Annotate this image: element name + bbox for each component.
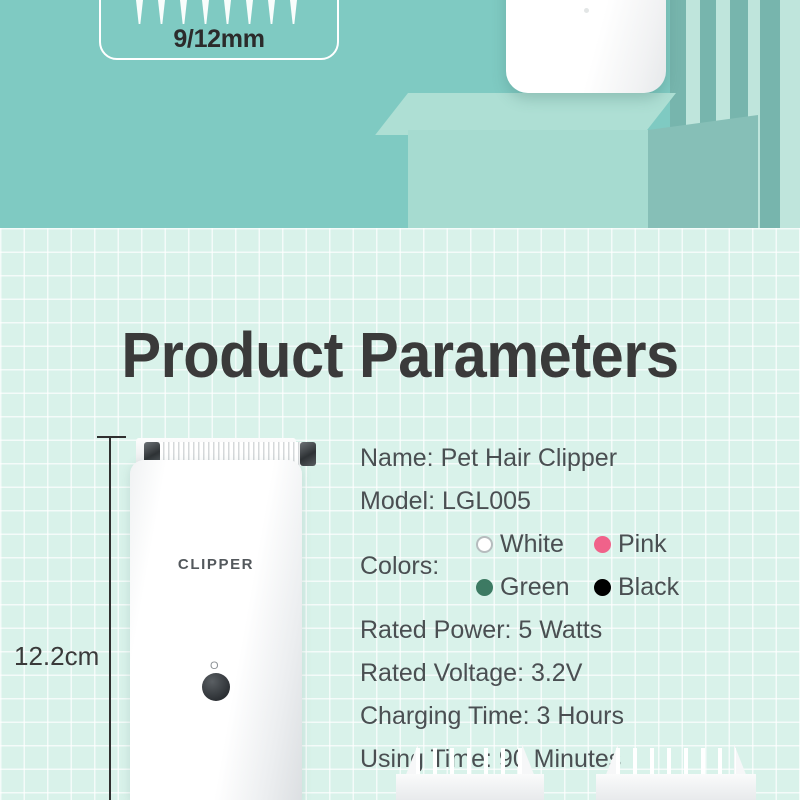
comb-tooth xyxy=(224,0,231,24)
spec-rated-power: Rated Power: 5 Watts xyxy=(360,609,780,652)
color-option-white[interactable]: White xyxy=(476,523,594,566)
clipper-body xyxy=(130,460,302,800)
dimension-line xyxy=(109,437,111,800)
comb-base xyxy=(396,774,544,800)
comb-attachment-right xyxy=(596,740,756,800)
comb-tooth xyxy=(158,0,165,24)
hero-banner: 9/12mm xyxy=(0,0,800,228)
power-symbol-icon: O xyxy=(210,660,219,672)
clipper-blade-guard-right xyxy=(300,442,316,466)
swatch-dot-green xyxy=(476,579,493,596)
color-option-green[interactable]: Green xyxy=(476,566,594,609)
comb-tooth xyxy=(290,0,297,24)
color-option-label: Green xyxy=(500,566,569,609)
comb-tooth xyxy=(202,0,209,24)
clipper-brand-label: CLIPPER xyxy=(130,556,302,573)
background-stripe xyxy=(760,0,780,228)
comb-base xyxy=(596,774,756,800)
pedestal-side-face xyxy=(648,115,758,228)
color-option-label: White xyxy=(500,523,564,566)
clipper-power-button xyxy=(202,673,230,701)
swatch-dot-pink xyxy=(594,536,611,553)
comb-size-label: 9/12mm xyxy=(99,25,339,54)
dimension-label: 12.2cm xyxy=(14,641,99,672)
specifications-list: Name: Pet Hair Clipper Model: LGL005 Col… xyxy=(360,437,780,781)
pedestal-front-face xyxy=(408,130,648,228)
swatch-dot-white xyxy=(476,536,493,553)
color-option-label: Pink xyxy=(618,523,667,566)
comb-tooth xyxy=(268,0,275,24)
spec-rated-voltage: Rated Voltage: 3.2V xyxy=(360,652,780,695)
comb-tooth xyxy=(136,0,143,24)
color-swatch-row: White Pink xyxy=(476,523,679,566)
color-option-label: Black xyxy=(618,566,679,609)
spec-model: Model: LGL005 xyxy=(360,480,780,523)
comb-attachment-left xyxy=(396,740,544,800)
spec-colors-row: Colors: White Pink Green xyxy=(360,523,780,609)
page-title: Product Parameters xyxy=(28,318,772,392)
comb-card-teeth-icon xyxy=(136,0,306,24)
swatch-dot-black xyxy=(594,579,611,596)
color-swatch-row: Green Black xyxy=(476,566,679,609)
comb-tooth xyxy=(246,0,253,24)
comb-tooth xyxy=(180,0,187,24)
color-swatch-grid: White Pink Green Black xyxy=(476,523,679,609)
spec-name: Name: Pet Hair Clipper xyxy=(360,437,780,480)
color-option-pink[interactable]: Pink xyxy=(594,523,667,566)
clipper-product-image: CLIPPER O xyxy=(122,430,310,800)
spec-charging-time: Charging Time: 3 Hours xyxy=(360,695,780,738)
charging-case-image xyxy=(506,0,666,93)
spec-colors-label: Colors: xyxy=(360,545,476,588)
color-option-black[interactable]: Black xyxy=(594,566,679,609)
pedestal-top-face xyxy=(375,93,676,135)
charging-case-indicator-dot xyxy=(584,8,589,13)
product-detail-page: 9/12mm Product Parameters 12.2cm CLIPPER… xyxy=(0,0,800,800)
background-stripe xyxy=(780,0,800,228)
